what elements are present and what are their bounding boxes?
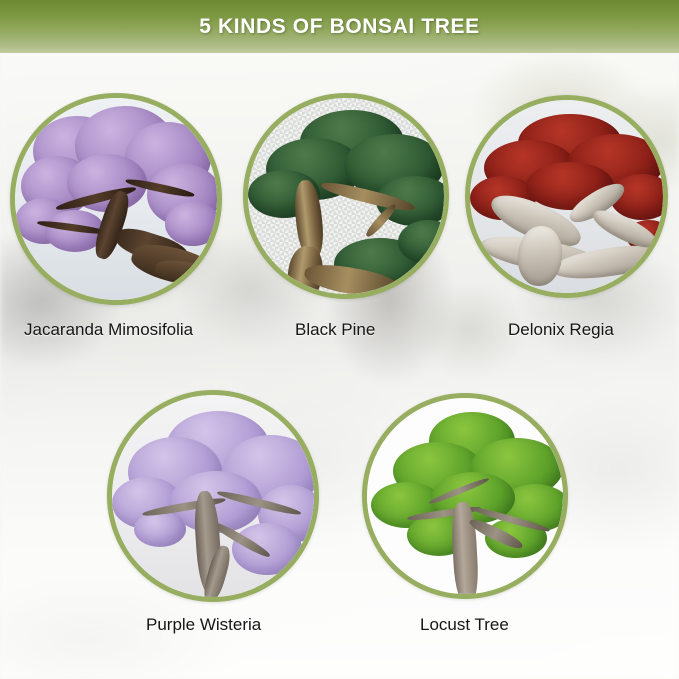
card-caption-locust: Locust Tree	[420, 616, 509, 633]
card-caption-wisteria: Purple Wisteria	[146, 616, 261, 633]
image-ring-black-pine	[243, 93, 449, 299]
image-ring-locust	[362, 393, 568, 599]
header-banner: 5 KINDS OF BONSAI TREE	[0, 0, 679, 53]
photo-locust-tree	[367, 398, 563, 594]
image-ring-delonix	[465, 95, 668, 298]
card-caption-jacaranda: Jacaranda Mimosifolia	[24, 321, 193, 338]
page-title: 5 KINDS OF BONSAI TREE	[191, 16, 487, 37]
foliage-blob	[232, 523, 302, 575]
image-ring-jacaranda	[10, 93, 222, 305]
card-caption-delonix: Delonix Regia	[508, 321, 614, 338]
foliage-blob	[134, 511, 186, 547]
photo-jacaranda-mimosifolia	[15, 98, 217, 300]
photo-purple-wisteria	[112, 395, 314, 597]
photo-black-pine	[248, 98, 444, 294]
card-caption-black-pine: Black Pine	[295, 321, 375, 338]
infographic-poster: 5 KINDS OF BONSAI TREE	[0, 0, 679, 679]
foliage-blob	[165, 202, 217, 246]
image-ring-wisteria	[107, 390, 319, 602]
photo-delonix-regia	[470, 100, 663, 293]
